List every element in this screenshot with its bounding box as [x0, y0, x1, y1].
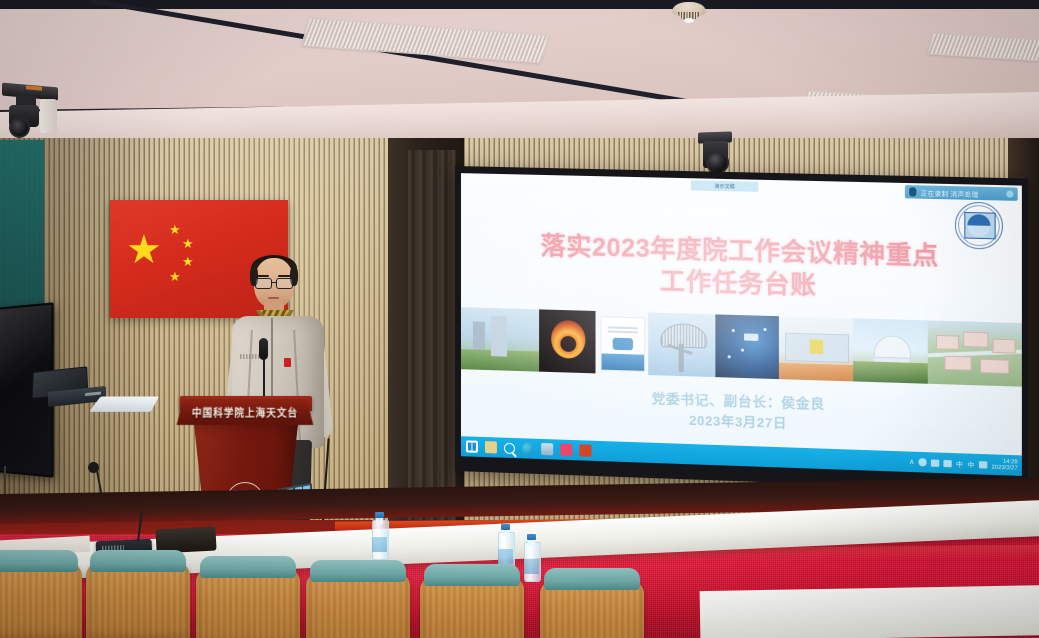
water-bottle[interactable]	[524, 534, 539, 582]
ceiling-pole	[40, 99, 57, 133]
ceiling-rail	[0, 0, 1039, 9]
projection-screen: 演示文稿 正在录制 消声处理 落实2023年度院工作会议精神重点 工作任务台账	[455, 166, 1028, 492]
file-explorer-icon[interactable]	[485, 441, 497, 453]
ime-mode[interactable]: 中	[968, 459, 975, 469]
audience-desk-right	[700, 585, 1039, 638]
audience-chair[interactable]	[540, 568, 644, 638]
powerpoint-icon[interactable]	[579, 444, 591, 456]
ceiling	[0, 0, 1039, 150]
radio-telescope-photo	[648, 312, 715, 377]
presentation-slide: 演示文稿 正在录制 消声处理 落实2023年度院工作会议精神重点 工作任务台账	[461, 173, 1022, 476]
flag-star-small: ★	[182, 237, 194, 250]
start-button[interactable]	[466, 440, 478, 452]
action-center-icon[interactable]	[979, 461, 987, 468]
ceiling-camera-center	[694, 132, 738, 176]
slide-photo-strip	[461, 307, 1022, 387]
slide-subtitle: 党委书记、副台长：侯金良 2023年3月27日	[485, 384, 997, 441]
recording-status-label: 正在录制 消声处理	[921, 187, 979, 199]
taskbar-icons	[461, 440, 591, 457]
window-curtain	[408, 150, 456, 540]
campus-aerial-photo	[928, 320, 1022, 386]
cityscape-photo	[461, 307, 539, 371]
wps-icon[interactable]	[560, 444, 572, 456]
flag-star-small: ★	[182, 255, 194, 268]
flag-star-small: ★	[169, 223, 181, 236]
podium-shelf	[89, 397, 159, 412]
glasses-lens	[276, 278, 293, 289]
space-satellite-photo	[715, 314, 779, 379]
smoke-detector-led	[684, 18, 694, 23]
black-hole-photo	[539, 309, 595, 373]
eyeglasses-icon	[255, 278, 293, 288]
onedrive-icon[interactable]	[919, 458, 927, 466]
chair-wood-grain	[86, 562, 190, 638]
jacket-embroidery	[240, 354, 260, 359]
audience-chair[interactable]	[306, 560, 410, 638]
chair-cushion	[424, 564, 520, 586]
chair-cushion	[544, 568, 640, 590]
chevron-up-icon[interactable]: ∧	[909, 458, 914, 466]
taskbar-clock[interactable]: 14:28 2023/3/27	[992, 458, 1018, 471]
smoke-detector-icon	[672, 2, 706, 24]
slide-title: 落实2023年度院工作会议精神重点 工作任务台账	[485, 230, 997, 307]
party-member-badge	[284, 358, 291, 367]
speaker-eyebrow	[278, 275, 291, 277]
glasses-lens	[255, 278, 272, 289]
audience-chair[interactable]	[86, 550, 190, 638]
ska-document-photo	[596, 311, 649, 375]
ceiling-camera-left	[0, 85, 70, 137]
chair-cushion	[310, 560, 406, 582]
recording-indicator	[1006, 190, 1013, 197]
chair-cushion	[90, 550, 186, 572]
camera-lens-icon	[706, 151, 729, 174]
clock-date: 2023/3/27	[992, 465, 1018, 472]
windows-taskbar[interactable]: ∧ 中 中 14:28 2023/3/27	[461, 436, 1022, 476]
flag-star-large: ★	[126, 230, 162, 270]
search-icon[interactable]	[504, 442, 515, 453]
photos-icon[interactable]	[541, 443, 553, 455]
speaker-eyebrow	[256, 275, 269, 277]
laboratory-photo	[779, 316, 853, 381]
audience-chair[interactable]	[420, 564, 524, 638]
logo-dome	[967, 214, 990, 237]
volume-icon[interactable]	[944, 459, 952, 466]
water-bottle[interactable]	[372, 512, 387, 560]
edge-browser-icon[interactable]	[522, 442, 534, 454]
observatory-dome-photo	[853, 318, 928, 383]
podium-microphone	[258, 338, 270, 404]
recording-status-pill[interactable]: 正在录制 消声处理	[905, 185, 1018, 201]
microphone-head-icon	[259, 338, 268, 360]
podium-nameplate: 中国科学院上海天文台	[177, 399, 314, 425]
taskbar-system-tray: ∧ 中 中 14:28 2023/3/27	[909, 456, 1022, 472]
chair-wood-grain	[196, 568, 300, 638]
conference-room-photo: ★ ★ ★ ★ ★ 演示文稿 正在录制 消声处理	[0, 0, 1039, 638]
teal-wall-panel	[0, 140, 44, 315]
ime-indicator[interactable]: 中	[956, 458, 963, 468]
chair-cushion	[0, 550, 78, 572]
chair-wood-grain	[0, 562, 82, 638]
camera-lens-icon	[9, 117, 30, 138]
audience-chair[interactable]	[0, 550, 82, 638]
microphone-icon	[909, 187, 916, 196]
audience-chair[interactable]	[196, 556, 300, 638]
network-icon[interactable]	[931, 459, 939, 466]
ppt-tab-label: 演示文稿	[691, 180, 758, 192]
flag-star-small: ★	[169, 270, 181, 283]
ceiling-air-vent	[927, 33, 1039, 61]
chair-cushion	[200, 556, 296, 578]
podium-nameplate-text: 中国科学院上海天文台	[192, 404, 299, 420]
